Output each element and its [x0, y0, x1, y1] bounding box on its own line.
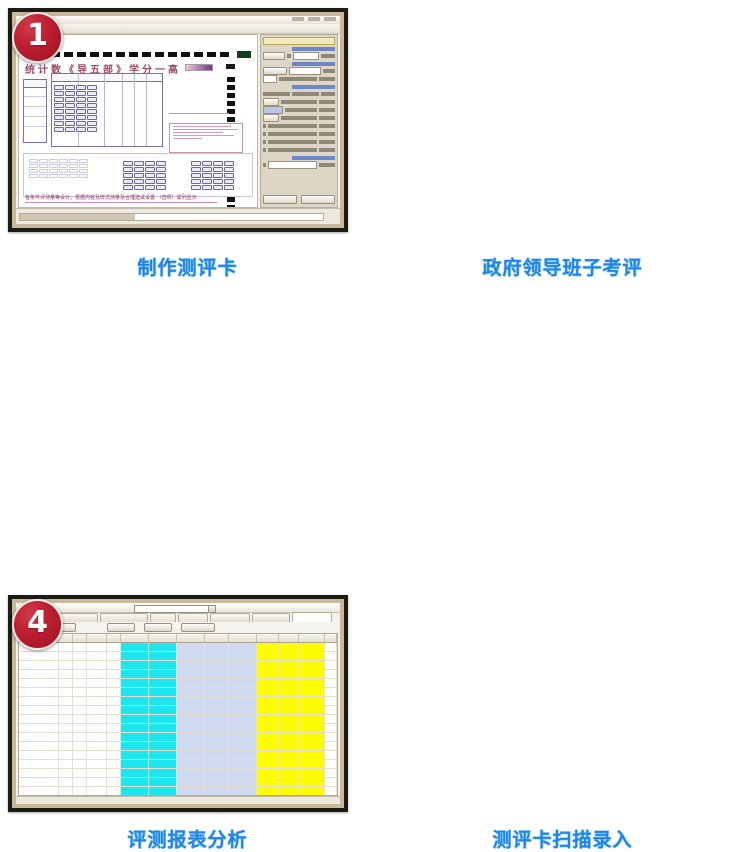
field-row[interactable] [263, 139, 335, 145]
field-button[interactable] [263, 114, 279, 122]
field-label [319, 148, 335, 152]
bubble-grid-left-bottom [29, 159, 88, 178]
sidebar-section [263, 47, 335, 59]
bubble-grid-main [54, 85, 97, 132]
app4-statusbar [16, 796, 340, 804]
panel-cell-2: 长岭县地方税务局2015年度领导班子考核测评大会 长岭县地方税务局 [375, 0, 750, 285]
app4-button-row [18, 623, 338, 631]
table-row[interactable] [19, 769, 337, 778]
field-button[interactable] [263, 52, 285, 60]
field-label [319, 100, 335, 104]
table-row[interactable] [19, 670, 337, 679]
bubble-grid-right-bottom [191, 161, 234, 190]
export-button[interactable] [107, 623, 135, 632]
app1-tool-icon[interactable] [308, 17, 320, 21]
panel-caption-2: 政府领导班子考评 [375, 253, 750, 280]
table-row[interactable] [19, 715, 337, 724]
bubble-grid-mid-bottom [123, 161, 166, 190]
panel-caption-4: 评测报表分析 [0, 825, 375, 852]
instruction-box [169, 123, 243, 153]
corner-marker [237, 51, 251, 58]
section-title [292, 85, 335, 89]
tab-score-detail[interactable] [210, 613, 250, 622]
table-row[interactable] [19, 787, 337, 796]
field-row[interactable] [263, 131, 335, 137]
field-row[interactable] [263, 99, 335, 105]
tab-opinion-survey[interactable] [178, 613, 208, 622]
bullet [263, 132, 266, 136]
field-label [281, 116, 317, 120]
app1-tool-icon[interactable] [324, 17, 336, 21]
field-row[interactable] [263, 76, 335, 82]
table-row[interactable] [19, 760, 337, 769]
field-row[interactable] [263, 53, 335, 59]
answer-sheet-design-app: 统计数《导五部》学分一高 [16, 16, 340, 224]
field-label [268, 140, 317, 144]
print-button[interactable] [144, 623, 172, 632]
gradient-bar [185, 64, 213, 71]
panel-image-4 [16, 603, 340, 804]
field-input[interactable] [263, 75, 277, 83]
field-label [281, 100, 317, 104]
field-button[interactable] [263, 98, 279, 106]
field-label [319, 132, 335, 136]
app4-tab-strip [18, 613, 338, 622]
panel-image-1: 统计数《导五部》学分一高 [16, 16, 340, 224]
chevron-down-icon[interactable] [208, 606, 215, 612]
badge-number-1: 1 [12, 12, 63, 63]
field-label [319, 124, 335, 128]
table-body [19, 643, 337, 796]
table-row[interactable] [19, 742, 337, 751]
badge-number-4: 4 [12, 599, 63, 650]
statistics-button[interactable] [181, 623, 215, 632]
table-row[interactable] [19, 706, 337, 715]
field-label [279, 77, 317, 81]
field-input[interactable] [268, 161, 317, 169]
table-row[interactable] [19, 661, 337, 670]
field-label [268, 124, 317, 128]
field-row[interactable] [263, 123, 335, 129]
field-label [268, 148, 317, 152]
tab-assessment-score[interactable] [292, 612, 332, 622]
cancel-button[interactable] [301, 195, 335, 204]
field-label [321, 54, 335, 58]
app1-canvas[interactable]: 统计数《导五部》学分一高 [18, 34, 258, 208]
section-title [292, 62, 335, 66]
app1-properties-sidebar[interactable] [260, 34, 338, 208]
field-input[interactable] [289, 67, 321, 75]
app1-tool-icon[interactable] [292, 17, 304, 21]
bullet [263, 163, 266, 167]
table-row[interactable] [19, 643, 337, 652]
table-row[interactable] [19, 778, 337, 787]
left-info-table [23, 79, 47, 143]
bullet [263, 140, 266, 144]
bullet [263, 148, 266, 152]
field-row[interactable] [263, 115, 335, 121]
signature-line [169, 113, 229, 114]
radio-label [263, 92, 290, 96]
field-button[interactable] [263, 67, 287, 75]
tab-score-statistics[interactable] [100, 613, 148, 622]
panel-cell-4: 4 评测报表分析 [0, 285, 375, 571]
field-label [268, 132, 317, 136]
app1-statusbar [16, 208, 340, 224]
report-selector-combo[interactable] [134, 605, 216, 613]
collage-grid: 统计数《导五部》学分一高 [0, 0, 750, 571]
section-title [292, 156, 335, 160]
app1-ribbon [16, 24, 340, 34]
table-row[interactable] [19, 733, 337, 742]
field-input[interactable] [293, 52, 319, 60]
confirm-button[interactable] [263, 195, 297, 204]
table-header-row [19, 634, 337, 643]
field-label [319, 163, 335, 167]
app1-title-tools [292, 17, 336, 21]
field-label [285, 108, 317, 112]
sidebar-action-buttons [263, 195, 335, 204]
sidebar-section [263, 85, 335, 153]
horizontal-scrollbar[interactable] [19, 213, 324, 221]
field-row[interactable] [263, 107, 335, 113]
field-label [319, 108, 335, 112]
field-label [319, 116, 335, 120]
bullet [263, 124, 266, 128]
app4-titlebar [16, 603, 340, 613]
radio-label [321, 92, 335, 96]
black-marker [226, 64, 235, 69]
section-title [292, 47, 335, 51]
panel-caption-3: 测评卡扫描录入 [375, 825, 750, 852]
sheet-footnote: 各条件评测量等设计，根据内容及样式测量及合理选试设置 （选项）需列显示 [25, 194, 217, 203]
tab-overall-rank[interactable] [150, 613, 176, 622]
table-row[interactable] [19, 724, 337, 733]
report-analysis-app [16, 603, 340, 804]
field-label [287, 54, 291, 58]
table-row[interactable] [19, 652, 337, 661]
table-row[interactable] [19, 751, 337, 760]
panel-cell-1: 统计数《导五部》学分一高 [0, 0, 375, 285]
table-row[interactable] [19, 679, 337, 688]
field-row[interactable] [263, 68, 335, 74]
tab-total-score[interactable] [252, 613, 290, 622]
field-label [323, 69, 335, 73]
panel-caption-1: 制作测评卡 [0, 253, 375, 280]
field-label [319, 77, 335, 81]
report-sheet[interactable] [18, 633, 338, 796]
field-button[interactable] [263, 106, 283, 114]
table-row[interactable] [19, 688, 337, 697]
field-label [319, 140, 335, 144]
panel-cell-3: 3 测评卡扫描录入 [375, 285, 750, 571]
table-row[interactable] [19, 697, 337, 706]
radio-label [292, 92, 319, 96]
sidebar-tab-options[interactable] [263, 37, 335, 45]
sidebar-section [263, 62, 335, 82]
radio-row[interactable] [263, 91, 335, 97]
sidebar-section [263, 156, 335, 168]
field-row[interactable] [263, 147, 335, 153]
field-row[interactable] [263, 162, 335, 168]
